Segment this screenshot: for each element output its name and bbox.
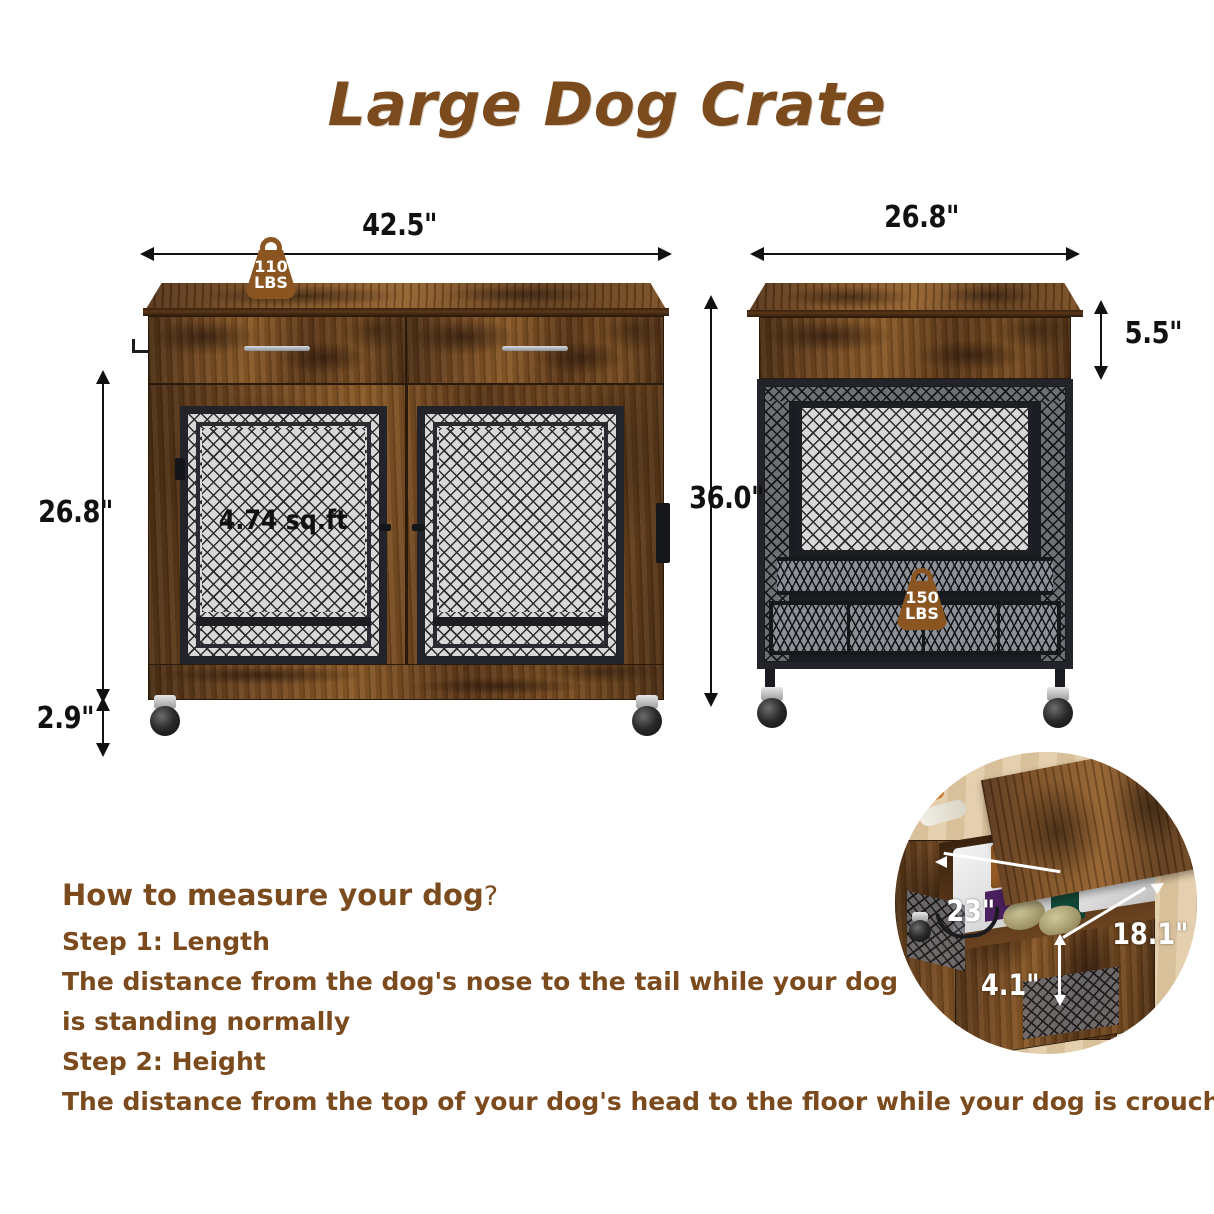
instructions-line-3: is standing normally — [62, 1007, 350, 1036]
side-top-board — [749, 283, 1081, 311]
caster-front-right — [630, 695, 664, 741]
door-right-mesh-inner — [439, 428, 602, 612]
drawer-detail-inset: 23" 18.1" 4.1" — [895, 752, 1197, 1054]
front-caster-label: 2.9" — [37, 701, 94, 736]
instructions-heading-mark: ? — [484, 881, 498, 912]
infographic-page: Large Dog Crate 42.5" 110 LBS — [0, 0, 1214, 1214]
instructions-line-4: Step 2: Height — [62, 1047, 266, 1076]
front-area-label: 4.74 sq.ft — [219, 505, 348, 536]
instructions-heading-text: How to measure your dog — [62, 878, 484, 912]
front-drawer-right-handle — [502, 346, 568, 351]
caster-side-right — [1041, 687, 1075, 733]
side-cage-back-mesh — [797, 403, 1033, 555]
front-top-board — [146, 283, 666, 309]
instructions-line-2: The distance from the dog's nose to the … — [62, 967, 898, 996]
instructions-line-5: The distance from the top of your dog's … — [62, 1087, 1214, 1116]
front-door-right[interactable] — [417, 406, 624, 664]
side-drawer-arrow — [1092, 300, 1110, 380]
side-total-height-arrow — [702, 295, 720, 707]
door-left-kick-mesh — [202, 626, 365, 644]
door-left-latch[interactable] — [379, 524, 391, 531]
side-tray-grid-v1 — [847, 601, 850, 655]
side-drawer-label: 5.5" — [1125, 316, 1182, 351]
front-lock-hardware[interactable] — [656, 503, 670, 563]
side-width-label: 26.8" — [884, 200, 959, 235]
front-top-edge — [143, 308, 669, 316]
weight-unit: LBS — [254, 275, 288, 291]
instructions-heading: How to measure your dog? — [62, 878, 498, 912]
door-left-kick-rail — [196, 617, 371, 626]
door-left-hinge-top — [175, 458, 185, 480]
inset-height-label: 4.1" — [981, 968, 1040, 1002]
front-caster-arrow — [94, 697, 112, 757]
weight-unit: LBS — [905, 606, 939, 622]
side-cabinet: 150 LBS — [745, 283, 1085, 707]
side-top-edge — [747, 310, 1083, 317]
side-tray-grid-v3 — [997, 601, 1000, 655]
weight-badge-110: 110 LBS — [246, 237, 296, 299]
front-cabinet: 4.74 sq.ft — [140, 283, 672, 707]
inset-depth-label: 18.1" — [1112, 917, 1188, 951]
inset-height-arrow — [1053, 934, 1067, 1006]
weight-badge-150: 150 LBS — [897, 568, 947, 630]
inset-length-arrow — [935, 856, 1065, 868]
door-right-kick-rail — [433, 617, 608, 626]
side-width-arrow — [750, 245, 1080, 263]
front-width-label: 42.5" — [362, 208, 437, 243]
front-center-divider — [405, 384, 408, 700]
caster-front-left — [148, 695, 182, 741]
side-total-height-label: 36.0" — [689, 481, 764, 516]
door-right-kick-mesh — [439, 626, 602, 644]
front-width-arrow — [140, 245, 672, 263]
inset-caster — [907, 912, 933, 946]
door-right-latch[interactable] — [412, 524, 424, 531]
side-cage-top-strip — [765, 387, 1065, 401]
front-height-arrow — [94, 370, 112, 703]
front-side-hook — [132, 339, 148, 353]
instructions-line-1: Step 1: Length — [62, 927, 270, 956]
inset-length-label: 23" — [946, 894, 995, 928]
caster-side-left — [755, 687, 789, 733]
front-plinth — [148, 664, 664, 700]
side-drawer-box — [759, 317, 1071, 379]
page-title: Large Dog Crate — [0, 70, 1214, 140]
front-drawer-left-handle — [244, 346, 310, 351]
